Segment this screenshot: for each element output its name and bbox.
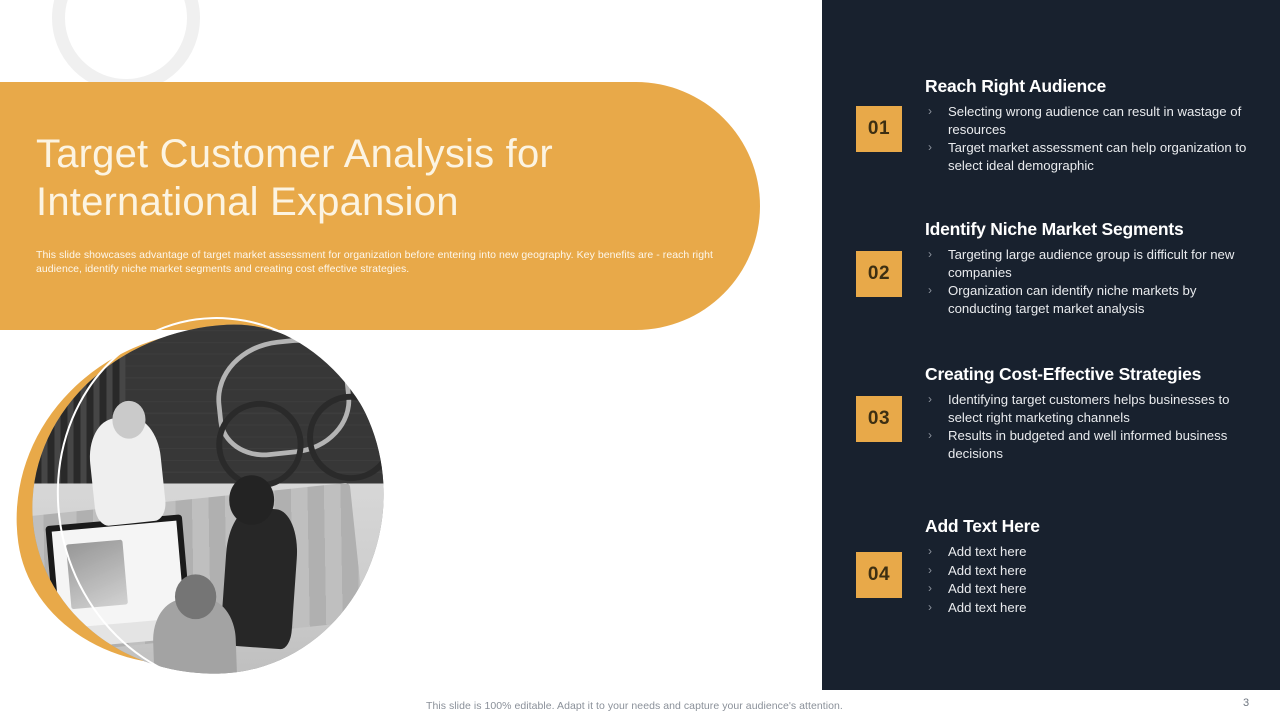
bullet-text: Identifying target customers helps busin… <box>948 392 1229 425</box>
item-bullet-list: ›Add text here ›Add text here ›Add text … <box>925 543 1255 616</box>
chevron-right-icon: › <box>928 580 932 598</box>
item-number-badge: 01 <box>856 106 902 152</box>
footer-note: This slide is 100% editable. Adapt it to… <box>426 700 843 712</box>
content-panel: 01 Reach Right Audience ›Selecting wrong… <box>822 0 1280 690</box>
item-number-badge: 03 <box>856 396 902 442</box>
bicycle-wheel-icon <box>216 401 303 488</box>
bullet-text: Targeting large audience group is diffic… <box>948 247 1234 280</box>
chevron-right-icon: › <box>928 139 932 157</box>
chevron-right-icon: › <box>928 391 932 409</box>
item-bullet-list: ›Selecting wrong audience can result in … <box>925 103 1255 174</box>
chevron-right-icon: › <box>928 562 932 580</box>
chevron-right-icon: › <box>928 103 932 121</box>
bullet-text: Add text here <box>948 544 1026 559</box>
bullet-text: Results in budgeted and well informed bu… <box>948 428 1227 461</box>
list-item: ›Identifying target customers helps busi… <box>925 391 1255 426</box>
hero-text-block: Target Customer Analysis for Internation… <box>36 130 676 276</box>
bullet-text: Selecting wrong audience can result in w… <box>948 104 1241 137</box>
bullet-text: Add text here <box>948 581 1026 596</box>
bullet-text: Add text here <box>948 600 1026 615</box>
list-item: ›Add text here <box>925 562 1255 580</box>
chevron-right-icon: › <box>928 282 932 300</box>
bullet-text: Add text here <box>948 563 1026 578</box>
item-number-badge: 02 <box>856 251 902 297</box>
chevron-right-icon: › <box>928 543 932 561</box>
photo-blob-cluster <box>6 300 406 700</box>
item-title: Creating Cost-Effective Strategies <box>925 364 1255 385</box>
item-bullet-list: ›Targeting large audience group is diffi… <box>925 246 1255 317</box>
bicycle-wheel-icon <box>308 393 393 480</box>
list-item: ›Results in budgeted and well informed b… <box>925 427 1255 462</box>
page-number: 3 <box>1243 697 1249 709</box>
person-head <box>175 574 217 619</box>
item-title: Reach Right Audience <box>925 76 1255 97</box>
page-subtitle: This slide showcases advantage of target… <box>36 248 724 276</box>
decorative-ring <box>52 0 200 92</box>
item-body: Creating Cost-Effective Strategies ›Iden… <box>925 364 1255 463</box>
photo-scene <box>23 317 393 683</box>
chevron-right-icon: › <box>928 427 932 445</box>
item-title: Identify Niche Market Segments <box>925 219 1255 240</box>
slide-canvas: Target Customer Analysis for Internation… <box>0 0 1280 720</box>
item-body: Add Text Here ›Add text here ›Add text h… <box>925 516 1255 617</box>
item-number-badge: 04 <box>856 552 902 598</box>
item-bullet-list: ›Identifying target customers helps busi… <box>925 391 1255 462</box>
list-item: ›Organization can identify niche markets… <box>925 282 1255 317</box>
chevron-right-icon: › <box>928 599 932 617</box>
list-item: ›Selecting wrong audience can result in … <box>925 103 1255 138</box>
list-item: ›Add text here <box>925 543 1255 561</box>
list-item: ›Target market assessment can help organ… <box>925 139 1255 174</box>
bullet-text: Target market assessment can help organi… <box>948 140 1246 173</box>
person-head <box>229 475 275 524</box>
bullet-text: Organization can identify niche markets … <box>948 283 1197 316</box>
list-item: ›Targeting large audience group is diffi… <box>925 246 1255 281</box>
item-body: Identify Niche Market Segments ›Targetin… <box>925 219 1255 318</box>
list-item: ›Add text here <box>925 599 1255 617</box>
chevron-right-icon: › <box>928 246 932 264</box>
team-meeting-photo <box>23 317 393 683</box>
person-head <box>112 401 145 438</box>
list-item: ›Add text here <box>925 580 1255 598</box>
item-title: Add Text Here <box>925 516 1255 537</box>
item-body: Reach Right Audience ›Selecting wrong au… <box>925 76 1255 175</box>
page-title: Target Customer Analysis for Internation… <box>36 130 676 226</box>
